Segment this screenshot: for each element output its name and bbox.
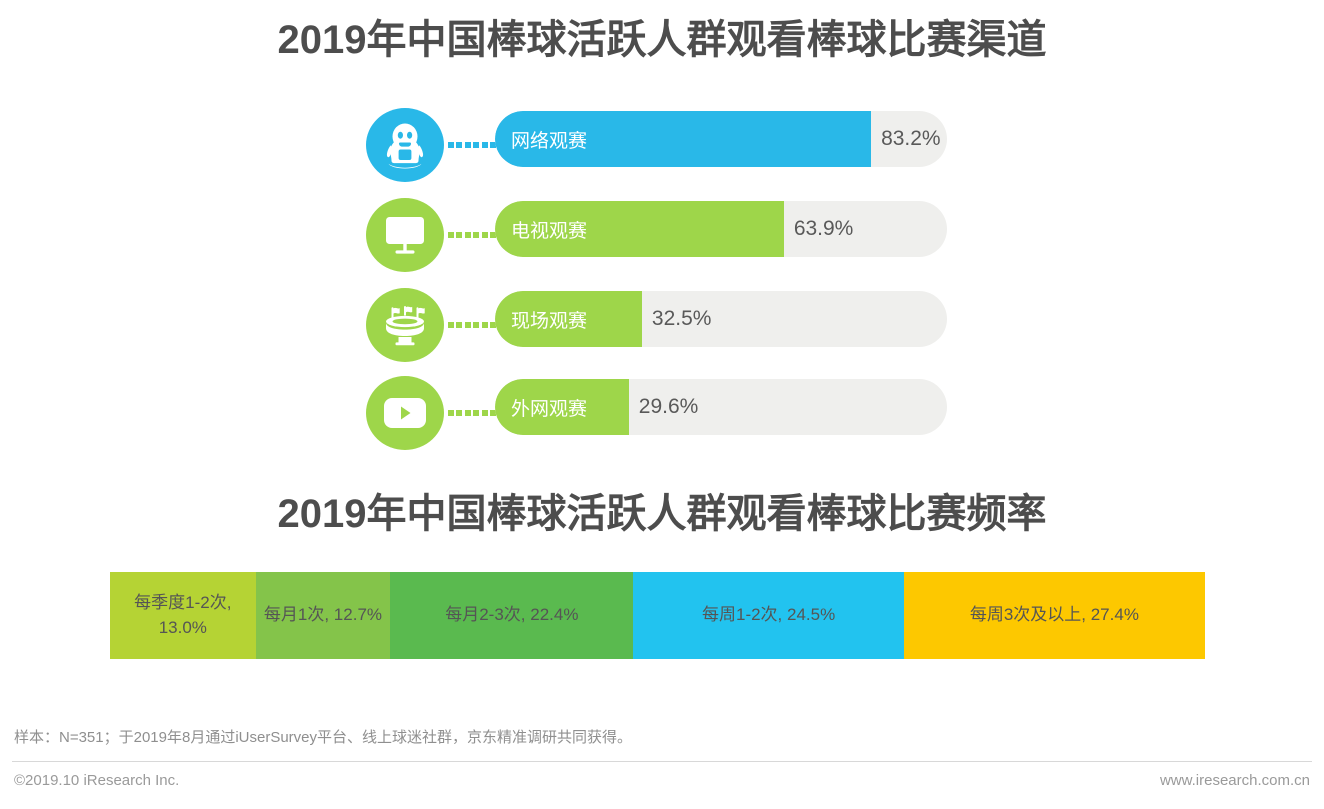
bar-category-label: 外网观赛 (511, 379, 587, 435)
stadium-icon (366, 288, 444, 362)
bar-value-label: 83.2% (881, 111, 941, 167)
page-title-channel: 2019年中国棒球活跃人群观看棒球比赛渠道 (0, 18, 1324, 62)
channel-row-tv: 电视观赛 63.9% (366, 190, 966, 280)
channel-row-overseas: 外网观赛 29.6% (366, 368, 966, 458)
channel-row-online: 网络观赛 83.2% (366, 100, 966, 190)
website-link[interactable]: www.iresearch.com.cn (1160, 772, 1310, 789)
bar-category-label: 网络观赛 (511, 111, 587, 167)
frequency-segment-weekly-3plus: 每周3次及以上, 27.4% (904, 572, 1205, 659)
play-button-icon (366, 376, 444, 450)
channel-bar-chart: 网络观赛 83.2% 电视观赛 63.9% (0, 100, 1324, 460)
channel-row-onsite: 现场观赛 32.5% (366, 280, 966, 370)
connector-dots (448, 409, 496, 416)
frequency-stacked-bar: 每季度1-2次, 13.0% 每月1次, 12.7% 每月2-3次, 22.4%… (110, 572, 1205, 659)
bar-value-label: 63.9% (794, 201, 854, 257)
bar-track: 网络观赛 83.2% (495, 111, 947, 167)
bar-value-label: 29.6% (639, 379, 699, 435)
copyright-text: ©2019.10 iResearch Inc. (14, 772, 179, 789)
bar-category-label: 电视观赛 (511, 201, 587, 257)
connector-dots (448, 141, 496, 148)
bar-track: 现场观赛 32.5% (495, 291, 947, 347)
frequency-segment-weekly-1-2: 每周1-2次, 24.5% (633, 572, 903, 659)
frequency-segment-monthly-1: 每月1次, 12.7% (256, 572, 391, 659)
bar-value-label: 32.5% (652, 291, 712, 347)
television-icon (366, 198, 444, 272)
connector-dots (448, 231, 496, 238)
connector-dots (448, 321, 496, 328)
frequency-segment-quarterly: 每季度1-2次, 13.0% (110, 572, 256, 659)
sample-footnote: 样本：N=351；于2019年8月通过iUserSurvey平台、线上球迷社群，… (14, 726, 632, 747)
qq-penguin-icon (366, 108, 444, 182)
frequency-segment-monthly-2-3: 每月2-3次, 22.4% (390, 572, 633, 659)
bar-track: 电视观赛 63.9% (495, 201, 947, 257)
bar-category-label: 现场观赛 (511, 291, 587, 347)
footer-divider (12, 761, 1312, 762)
page-title-frequency: 2019年中国棒球活跃人群观看棒球比赛频率 (0, 492, 1324, 536)
bar-track: 外网观赛 29.6% (495, 379, 947, 435)
